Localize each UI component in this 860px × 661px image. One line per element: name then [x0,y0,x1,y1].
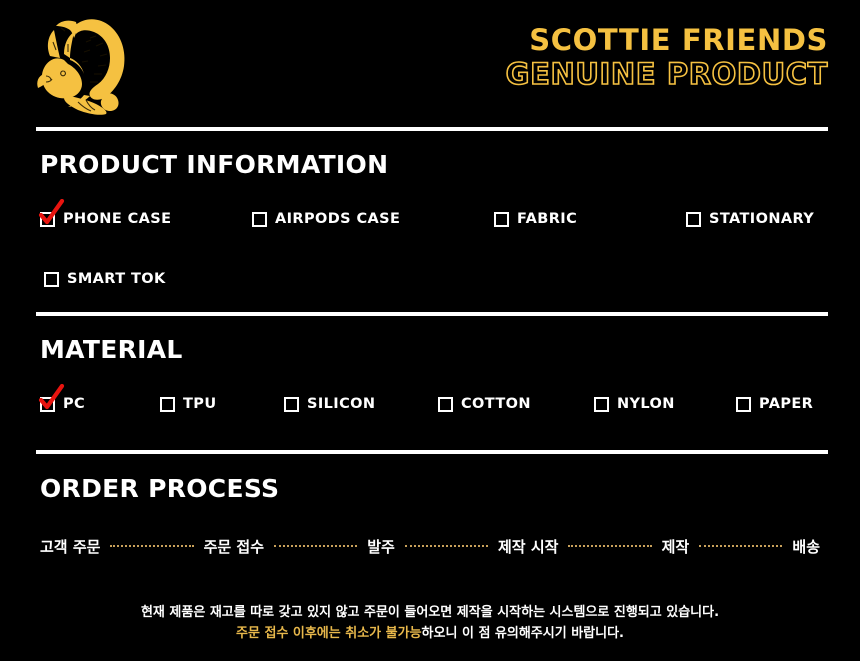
flow-step-2: 주문 접수 [204,536,264,557]
checkbox-label: NYLON [617,396,675,412]
checkbox-unchecked[interactable] [160,397,175,412]
divider-bottom [36,450,828,454]
material-option-pc[interactable]: PC [40,392,85,416]
checkbox-unchecked[interactable] [736,397,751,412]
checkbox-unchecked[interactable] [494,212,509,227]
checkbox-checked[interactable] [40,397,55,412]
checkbox-label: SMART TOK [67,271,166,287]
product-option-smart-tok[interactable]: SMART TOK [44,267,166,291]
flow-connector [699,545,782,549]
checkbox-unchecked[interactable] [686,212,701,227]
material-option-silicon[interactable]: SILICON [284,392,375,416]
checkbox-unchecked[interactable] [284,397,299,412]
checkbox-label: PAPER [759,396,813,412]
brand-line-genuine-product: GENUINE PRODUCT [506,60,828,89]
brand-line-scottie-friends: SCOTTIE FRIENDS [506,26,828,55]
header: SCOTTIE FRIENDS GENUINE PRODUCT [0,0,860,122]
checkbox-unchecked[interactable] [44,272,59,287]
flow-connector [568,545,651,549]
product-option-stationary[interactable]: STATIONARY [686,207,814,231]
flow-connector [110,545,193,549]
checkbox-label: COTTON [461,396,531,412]
scottie-dog-logo-icon [34,12,146,120]
material-option-nylon[interactable]: NYLON [594,392,675,416]
footer-note-line-1: 현재 제품은 재고를 따로 갖고 있지 않고 주문이 들어오면 제작을 시작하는… [0,602,860,623]
flow-step-1: 고객 주문 [40,536,100,557]
material-checkbox-row-1: PCTPUSILICONCOTTONNYLONPAPER [40,392,840,416]
product-checkbox-row-2: SMART TOK [40,267,840,291]
flow-step-6: 배송 [792,536,820,557]
section-title-material: MATERIAL [40,335,183,364]
product-option-fabric[interactable]: FABRIC [494,207,577,231]
product-option-phone-case[interactable]: PHONE CASE [40,207,171,231]
divider-top [36,127,828,131]
footer-note-rest: 하오니 이 점 유의해주시기 바랍니다. [422,626,624,641]
checkbox-label: STATIONARY [709,211,814,227]
material-option-paper[interactable]: PAPER [736,392,813,416]
red-check-icon [37,199,65,227]
checkbox-unchecked[interactable] [252,212,267,227]
brand-wordmark: SCOTTIE FRIENDS GENUINE PRODUCT [506,26,828,89]
flow-connector [405,545,488,549]
footer-note-highlight: 주문 접수 이후에는 취소가 불가능 [236,626,422,641]
material-option-tpu[interactable]: TPU [160,392,217,416]
footer-note: 현재 제품은 재고를 따로 갖고 있지 않고 주문이 들어오면 제작을 시작하는… [0,602,860,644]
product-info-sheet: SCOTTIE FRIENDS GENUINE PRODUCT PRODUCT … [0,0,860,661]
checkbox-label: AIRPODS CASE [275,211,400,227]
checkbox-unchecked[interactable] [438,397,453,412]
checkbox-unchecked[interactable] [594,397,609,412]
flow-step-3: 발주 [367,536,395,557]
checkbox-checked[interactable] [40,212,55,227]
flow-step-5: 제작 [662,536,690,557]
footer-note-line-2: 주문 접수 이후에는 취소가 불가능하오니 이 점 유의해주시기 바랍니다. [0,623,860,644]
material-option-cotton[interactable]: COTTON [438,392,531,416]
section-title-product-information: PRODUCT INFORMATION [40,150,388,179]
product-checkbox-row-1: PHONE CASEAIRPODS CASEFABRICSTATIONARY [40,207,840,231]
divider-middle [36,312,828,316]
checkbox-label: PHONE CASE [63,211,171,227]
order-process-flow: 고객 주문주문 접수발주제작 시작제작배송 [40,533,820,559]
flow-connector [274,545,357,549]
checkbox-label: TPU [183,396,217,412]
product-option-airpods-case[interactable]: AIRPODS CASE [252,207,400,231]
section-title-order-process: ORDER PROCESS [40,474,279,503]
flow-step-4: 제작 시작 [498,536,558,557]
checkbox-label: FABRIC [517,211,577,227]
checkbox-label: SILICON [307,396,375,412]
red-check-icon [37,384,65,412]
checkbox-label: PC [63,396,85,412]
